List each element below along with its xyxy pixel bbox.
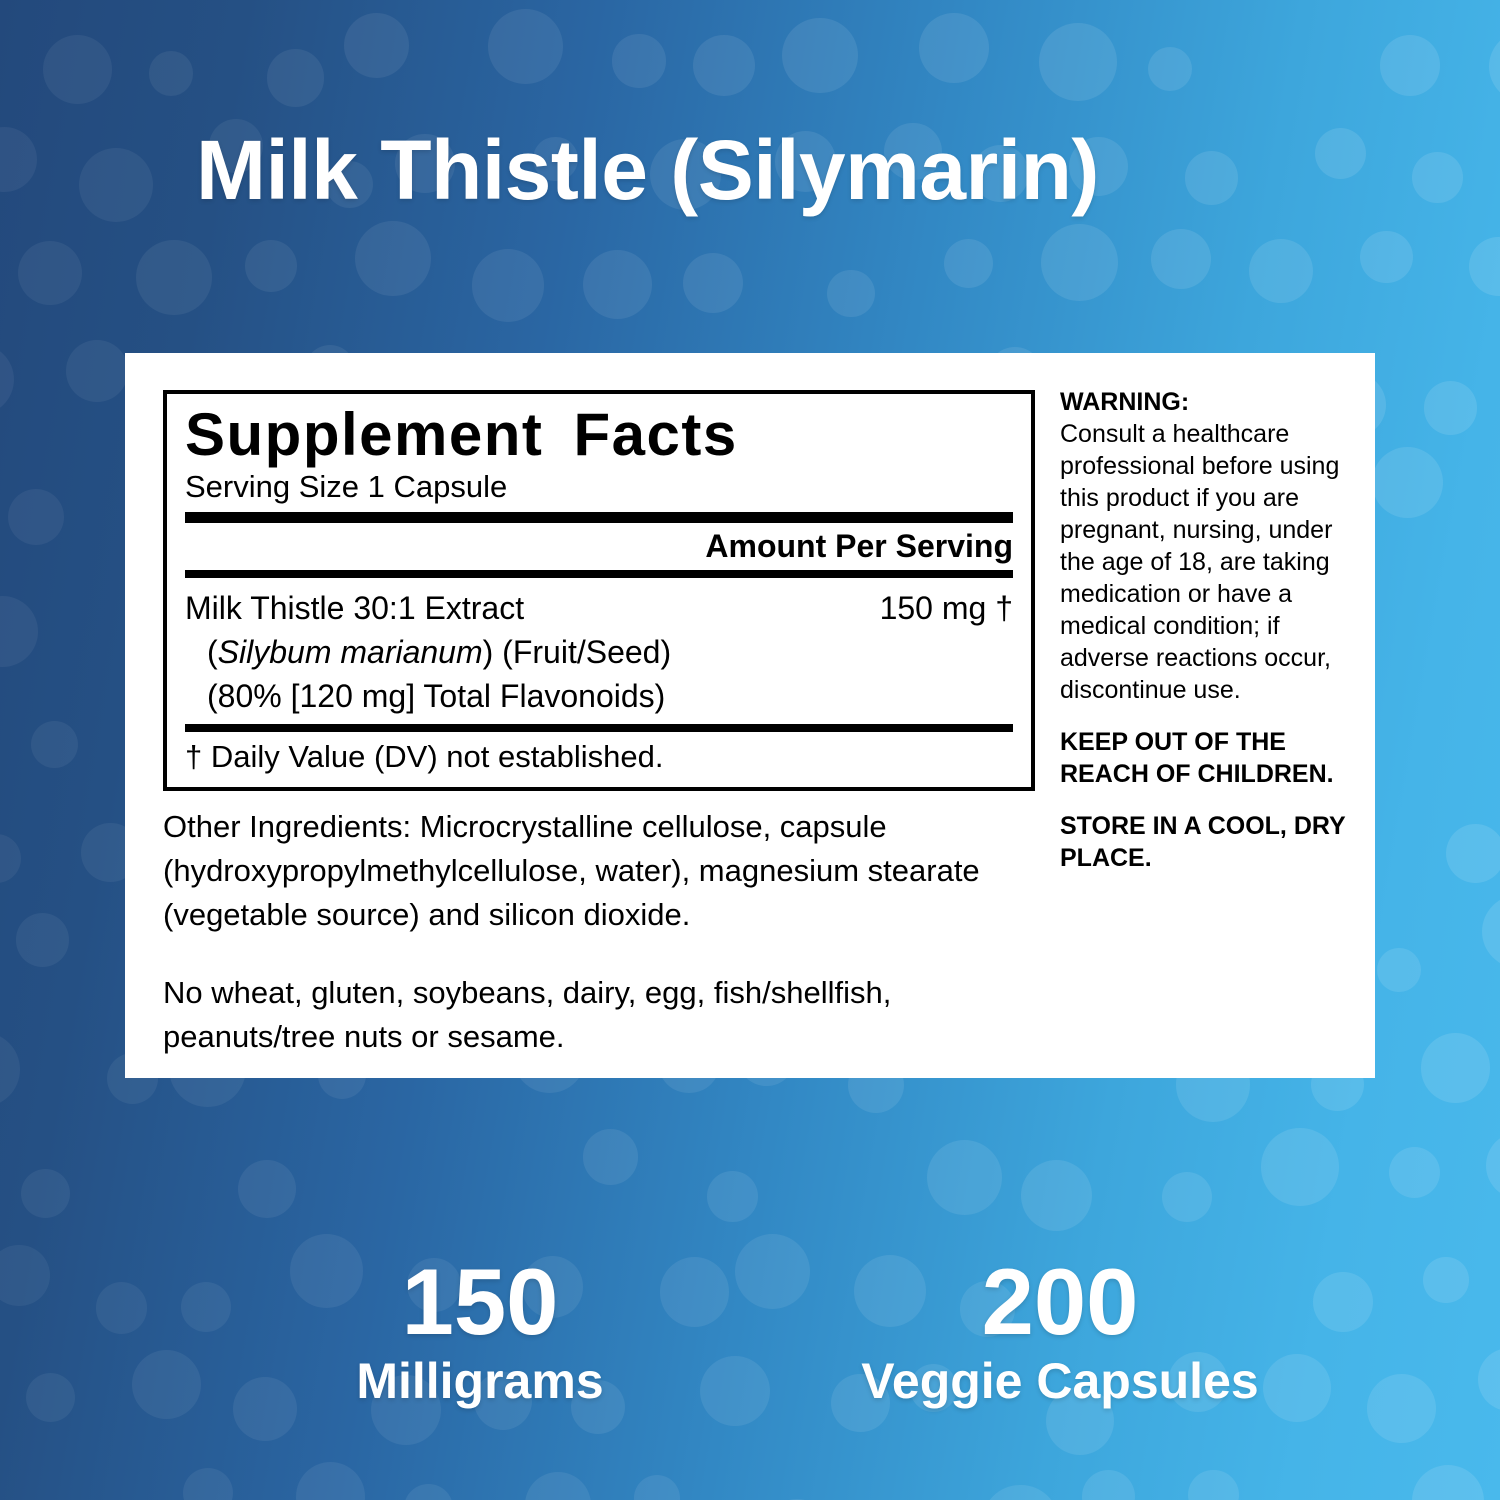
decorative-dot: [488, 9, 563, 84]
page-title: Milk Thistle (Silymarin): [196, 126, 1396, 214]
ingredient-amount: 150 mg †: [880, 586, 1013, 630]
warning-column: WARNING: Consult a healthcare profession…: [1060, 386, 1350, 874]
stat-count-value: 200: [780, 1255, 1340, 1349]
stat-dosage-label: Milligrams: [200, 1353, 760, 1411]
decorative-dot: [238, 1160, 296, 1218]
decorative-dot: [0, 127, 37, 192]
keep-out-of-reach-text: KEEP OUT OF THE REACH OF CHILDREN.: [1060, 726, 1350, 790]
decorative-dot: [782, 18, 858, 94]
amount-per-serving-header: Amount Per Serving: [185, 523, 1013, 570]
decorative-dot: [707, 1171, 757, 1221]
decorative-dot: [355, 221, 431, 297]
decorative-dot: [149, 51, 193, 95]
decorative-dot: [693, 35, 755, 97]
supplement-facts-box: Supplement Facts Serving Size 1 Capsule …: [163, 390, 1035, 791]
decorative-dot: [0, 596, 38, 667]
allergen-statement-text: No wheat, gluten, soybeans, dairy, egg, …: [163, 971, 1043, 1059]
decorative-dot: [982, 1485, 1058, 1500]
decorative-dot: [1482, 895, 1500, 969]
store-statement-text: STORE IN A COOL, DRY PLACE.: [1060, 810, 1350, 874]
decorative-dot: [66, 340, 127, 401]
decorative-dot: [136, 240, 211, 315]
decorative-dot: [1489, 31, 1500, 102]
decorative-dot: [245, 240, 297, 292]
flavonoid-content: (80% [120 mg] Total Flavonoids): [207, 678, 665, 714]
decorative-dot: [1039, 23, 1117, 101]
serving-size-text: Serving Size 1 Capsule: [185, 468, 1013, 505]
decorative-dot: [472, 249, 545, 322]
decorative-dot: [927, 1140, 1002, 1215]
decorative-dot: [1249, 239, 1313, 303]
decorative-dot: [1360, 231, 1413, 284]
decorative-dot: [1469, 237, 1500, 296]
stat-dosage: 150 Milligrams: [200, 1255, 760, 1411]
supplement-facts-column: Supplement Facts Serving Size 1 Capsule …: [163, 390, 1035, 1091]
daily-value-note: † Daily Value (DV) not established.: [185, 732, 1013, 779]
decorative-dot: [1188, 1470, 1239, 1500]
decorative-dot: [583, 250, 652, 319]
scientific-name: Silybum marianum: [218, 634, 483, 670]
decorative-dot: [612, 34, 665, 87]
decorative-dot: [1151, 229, 1211, 289]
product-stats-row: 150 Milligrams 200 Veggie Capsules: [0, 1255, 1500, 1411]
decorative-dot: [0, 1032, 20, 1108]
decorative-dot: [344, 13, 409, 78]
decorative-dot: [1148, 47, 1192, 91]
decorative-dot: [1041, 224, 1118, 301]
decorative-dot: [919, 13, 989, 83]
decorative-dot: [1412, 1465, 1484, 1500]
decorative-dot: [1389, 1147, 1440, 1198]
decorative-dot: [183, 1468, 233, 1500]
decorative-dot: [0, 834, 21, 883]
decorative-dot: [31, 721, 78, 768]
divider-medium: [185, 570, 1013, 578]
decorative-dot: [0, 344, 14, 415]
decorative-dot: [1486, 1132, 1500, 1199]
decorative-dot: [1421, 1033, 1490, 1102]
stat-dosage-value: 150: [200, 1255, 760, 1349]
decorative-dot: [683, 253, 743, 313]
product-label-graphic: Milk Thistle (Silymarin) Supplement Fact…: [0, 0, 1500, 1500]
decorative-dot: [1372, 447, 1443, 518]
decorative-dot: [296, 1462, 365, 1500]
stat-count: 200 Veggie Capsules: [780, 1255, 1340, 1411]
sub-prefix: (: [207, 634, 218, 670]
stat-count-label: Veggie Capsules: [780, 1353, 1340, 1411]
decorative-dot: [79, 148, 153, 222]
decorative-dot: [43, 35, 112, 104]
decorative-dot: [583, 1129, 638, 1184]
decorative-dot: [1446, 824, 1500, 883]
ingredient-subline-1: (Silybum marianum) (Fruit/Seed): [185, 630, 1013, 674]
sub-suffix: ) (Fruit/Seed): [483, 634, 671, 670]
warning-heading: WARNING:: [1060, 386, 1350, 418]
decorative-dot: [827, 270, 875, 318]
decorative-dot: [525, 1472, 592, 1500]
supplement-label-panel: Supplement Facts Serving Size 1 Capsule …: [125, 353, 1375, 1078]
ingredient-name-line: Milk Thistle 30:1 Extract 150 mg †: [185, 586, 1013, 630]
decorative-dot: [634, 1475, 680, 1500]
decorative-dot: [267, 49, 325, 107]
decorative-dot: [1380, 35, 1440, 95]
decorative-dot: [944, 239, 993, 288]
decorative-dot: [16, 913, 69, 966]
ingredient-subline-2: (80% [120 mg] Total Flavonoids): [185, 674, 1013, 718]
ingredient-row: Milk Thistle 30:1 Extract 150 mg † (Sily…: [185, 578, 1013, 724]
decorative-dot: [1162, 1172, 1212, 1222]
decorative-dot: [21, 1169, 70, 1218]
decorative-dot: [1412, 152, 1463, 203]
decorative-dot: [1424, 381, 1478, 435]
decorative-dot: [1021, 1160, 1092, 1231]
decorative-dot: [1082, 1470, 1135, 1500]
decorative-dot: [404, 1484, 453, 1500]
ingredient-name: Milk Thistle 30:1 Extract: [185, 590, 524, 626]
divider-medium-bottom: [185, 724, 1013, 732]
other-ingredients-text: Other Ingredients: Microcrystalline cell…: [163, 805, 1043, 937]
decorative-dot: [8, 489, 65, 546]
decorative-dot: [1261, 1128, 1338, 1205]
decorative-dot: [1377, 948, 1421, 992]
divider-thick-top: [185, 512, 1013, 523]
warning-body-text: Consult a healthcare professional before…: [1060, 418, 1350, 706]
decorative-dot: [18, 241, 82, 305]
supplement-facts-heading: Supplement Facts: [185, 404, 1013, 466]
